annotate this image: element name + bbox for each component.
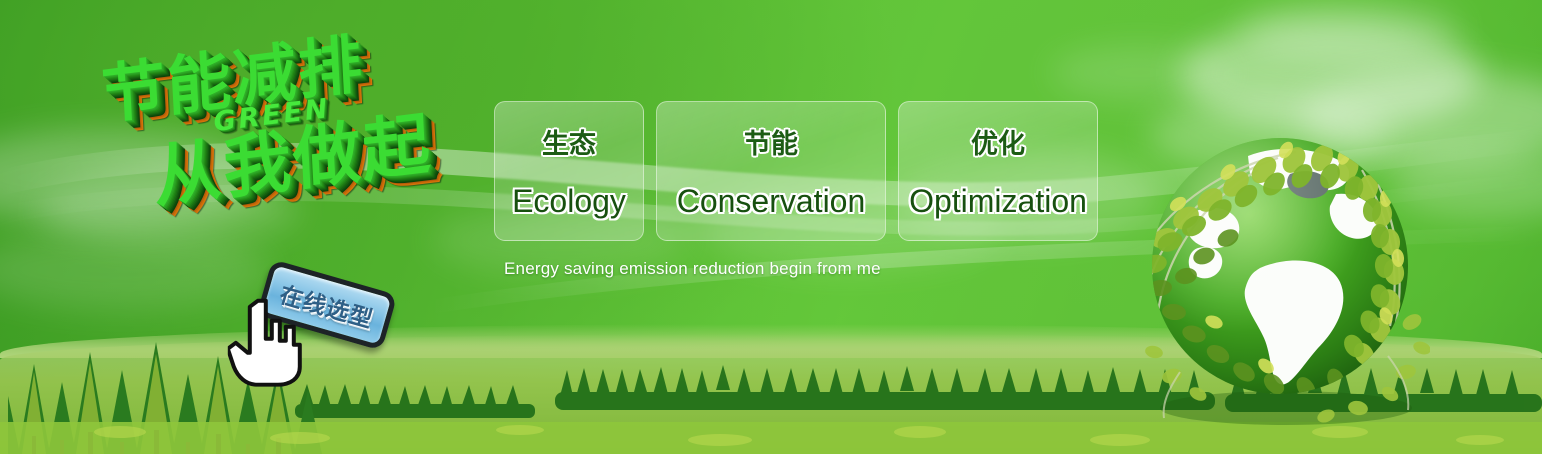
feature-card-conservation[interactable]: 节能 Conservation bbox=[656, 101, 886, 241]
feature-card-title-cn: 生态 bbox=[542, 122, 596, 161]
hand-pointer-icon bbox=[228, 295, 306, 387]
feature-card-title-en: Optimization bbox=[909, 183, 1087, 220]
feature-card-title-cn: 节能 bbox=[744, 122, 798, 161]
feature-card-list: 生态 Ecology 节能 Conservation 优化 Optimizati… bbox=[494, 101, 1098, 241]
leafy-globe-icon bbox=[1140, 126, 1430, 426]
feature-card-title-en: Ecology bbox=[512, 183, 626, 220]
headline-line-2: 从我做起 bbox=[152, 111, 433, 213]
headline-artwork: 节能减排 GREEN 从我做起 bbox=[83, 13, 499, 294]
feature-card-title-cn: 优化 bbox=[971, 122, 1025, 161]
feature-card-title-en: Conservation bbox=[677, 183, 866, 220]
eco-promo-banner: 节能减排 GREEN 从我做起 在线选型 生态 Ecology 节能 Conse… bbox=[0, 0, 1542, 454]
feature-card-optimization[interactable]: 优化 Optimization bbox=[898, 101, 1098, 241]
feature-card-ecology[interactable]: 生态 Ecology bbox=[494, 101, 644, 241]
tagline-text: Energy saving emission reduction begin f… bbox=[504, 259, 881, 279]
